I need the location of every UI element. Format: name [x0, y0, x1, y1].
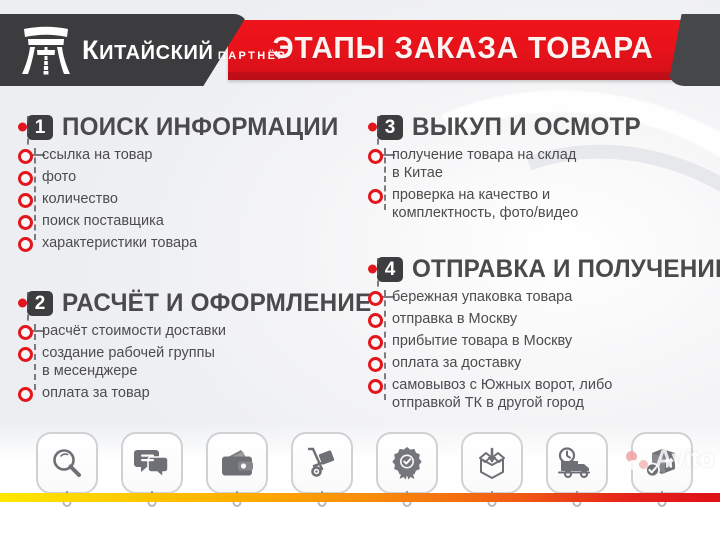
step-1: 1 ПОИСК ИНФОРМАЦИИ ссылка на товар фото …	[18, 114, 354, 252]
list-item: оплата за товар	[18, 384, 354, 402]
list-item: фото	[18, 168, 354, 186]
list-item: количество	[18, 190, 354, 208]
chat-bubbles-icon	[121, 432, 183, 494]
list-item-label: поиск поставщика	[42, 212, 164, 230]
wallet-icon	[206, 432, 268, 494]
list-item: прибытие товара в Москву	[368, 332, 704, 350]
list-item-label: расчёт стоимости доставки	[42, 322, 226, 340]
list-item-label: создание рабочей группыв месенджере	[42, 344, 215, 380]
bullet-ring-icon	[368, 291, 383, 306]
brand-name: КИТАЙСКИЙ	[82, 42, 213, 64]
step-2-header: 2 РАСЧЁТ И ОФОРМЛЕНИЕ	[18, 290, 354, 316]
step-4: 4 ОТПРАВКА И ПОЛУЧЕНИЕ бережная упаковка…	[368, 256, 704, 412]
list-item-label: отправка в Москву	[392, 310, 517, 328]
list-item: отправка в Москву	[368, 310, 704, 328]
step-2-title: РАСЧЁТ И ОФОРМЛЕНИЕ	[62, 290, 371, 316]
list-item-label: самовывоз с Южных ворот, либоотправкой Т…	[392, 376, 612, 412]
list-item-label: количество	[42, 190, 118, 208]
step-3: 3 ВЫКУП И ОСМОТР получение товара на скл…	[368, 114, 704, 222]
list-item: самовывоз с Южных ворот, либоотправкой Т…	[368, 376, 704, 412]
delivery-truck-clock-icon	[546, 432, 608, 494]
brand-logo-text: КИТАЙСКИЙ ПАРТНЁР	[82, 39, 287, 64]
bullet-ring-icon	[18, 193, 33, 208]
page-title: ЭТАПЫ ЗАКАЗА ТОВАРА	[266, 28, 660, 68]
verified-parcel-icon	[631, 432, 693, 494]
list-item: создание рабочей группыв месенджере	[18, 344, 354, 380]
brand-logo: КИТАЙСКИЙ ПАРТНЁР	[20, 26, 287, 76]
list-item-label: характеристики товара	[42, 234, 197, 252]
magnifier-icon	[36, 432, 98, 494]
step-2-bullet-list: расчёт стоимости доставки создание рабоч…	[18, 322, 354, 402]
list-item-label: бережная упаковка товара	[392, 288, 572, 306]
process-icon-strip: Avito	[0, 430, 720, 502]
list-item: расчёт стоимости доставки	[18, 322, 354, 340]
bullet-ring-icon	[368, 357, 383, 372]
bullet-ring-icon	[368, 313, 383, 328]
list-item: поиск поставщика	[18, 212, 354, 230]
bullet-ring-icon	[368, 189, 383, 204]
step-3-block: 3 ВЫКУП И ОСМОТР получение товара на скл…	[368, 114, 704, 226]
step-1-title: ПОИСК ИНФОРМАЦИИ	[62, 114, 339, 140]
step-2-block: 2 РАСЧЁТ И ОФОРМЛЕНИЕ расчёт стоимости д…	[18, 290, 354, 406]
infographic-poster: КИТАЙСКИЙ ПАРТНЁР ЭТАПЫ ЗАКАЗА ТОВАРА 1 …	[0, 0, 720, 540]
list-item-label: фото	[42, 168, 76, 186]
bullet-ring-icon	[18, 171, 33, 186]
list-item: получение товара на складв Китае	[368, 146, 704, 182]
list-item: проверка на качество икомплектность, фот…	[368, 186, 704, 222]
list-item: оплата за доставку	[368, 354, 704, 372]
list-item: характеристики товара	[18, 234, 354, 252]
bullet-ring-icon	[18, 387, 33, 402]
bullet-ring-icon	[368, 335, 383, 350]
torii-gate-icon	[20, 26, 72, 76]
step-3-bullet-list: получение товара на складв Китае проверк…	[368, 146, 704, 222]
step-2: 2 РАСЧЁТ И ОФОРМЛЕНИЕ расчёт стоимости д…	[18, 290, 354, 402]
quality-badge-icon	[376, 432, 438, 494]
box-packing-icon	[461, 432, 523, 494]
step-3-title: ВЫКУП И ОСМОТР	[412, 114, 641, 140]
step-4-bullet-list: бережная упаковка товара отправка в Моск…	[368, 288, 704, 412]
bullet-ring-icon	[368, 149, 383, 164]
step-4-title: ОТПРАВКА И ПОЛУЧЕНИЕ	[412, 256, 720, 282]
list-item-label: проверка на качество икомплектность, фот…	[392, 186, 578, 222]
bullet-ring-icon	[18, 215, 33, 230]
step-1-header: 1 ПОИСК ИНФОРМАЦИИ	[18, 114, 354, 140]
bullet-ring-icon	[18, 149, 33, 164]
step-4-header: 4 ОТПРАВКА И ПОЛУЧЕНИЕ	[368, 256, 704, 282]
bullet-ring-icon	[18, 347, 33, 362]
process-timeline-bar	[0, 493, 720, 502]
list-item-label: получение товара на складв Китае	[392, 146, 576, 182]
list-item: бережная упаковка товара	[368, 288, 704, 306]
step-1-block: 1 ПОИСК ИНФОРМАЦИИ ссылка на товар фото …	[18, 114, 354, 256]
bullet-ring-icon	[18, 237, 33, 252]
list-item-label: ссылка на товар	[42, 146, 152, 164]
list-item-label: оплата за товар	[42, 384, 150, 402]
bullet-ring-icon	[18, 325, 33, 340]
hand-truck-icon	[291, 432, 353, 494]
step-1-bullet-list: ссылка на товар фото количество поиск по…	[18, 146, 354, 252]
bullet-ring-icon	[368, 379, 383, 394]
poster-header: КИТАЙСКИЙ ПАРТНЁР ЭТАПЫ ЗАКАЗА ТОВАРА	[0, 14, 720, 86]
step-3-header: 3 ВЫКУП И ОСМОТР	[368, 114, 704, 140]
list-item-label: прибытие товара в Москву	[392, 332, 572, 350]
list-item: ссылка на товар	[18, 146, 354, 164]
step-4-block: 4 ОТПРАВКА И ПОЛУЧЕНИЕ бережная упаковка…	[368, 256, 704, 416]
list-item-label: оплата за доставку	[392, 354, 521, 372]
